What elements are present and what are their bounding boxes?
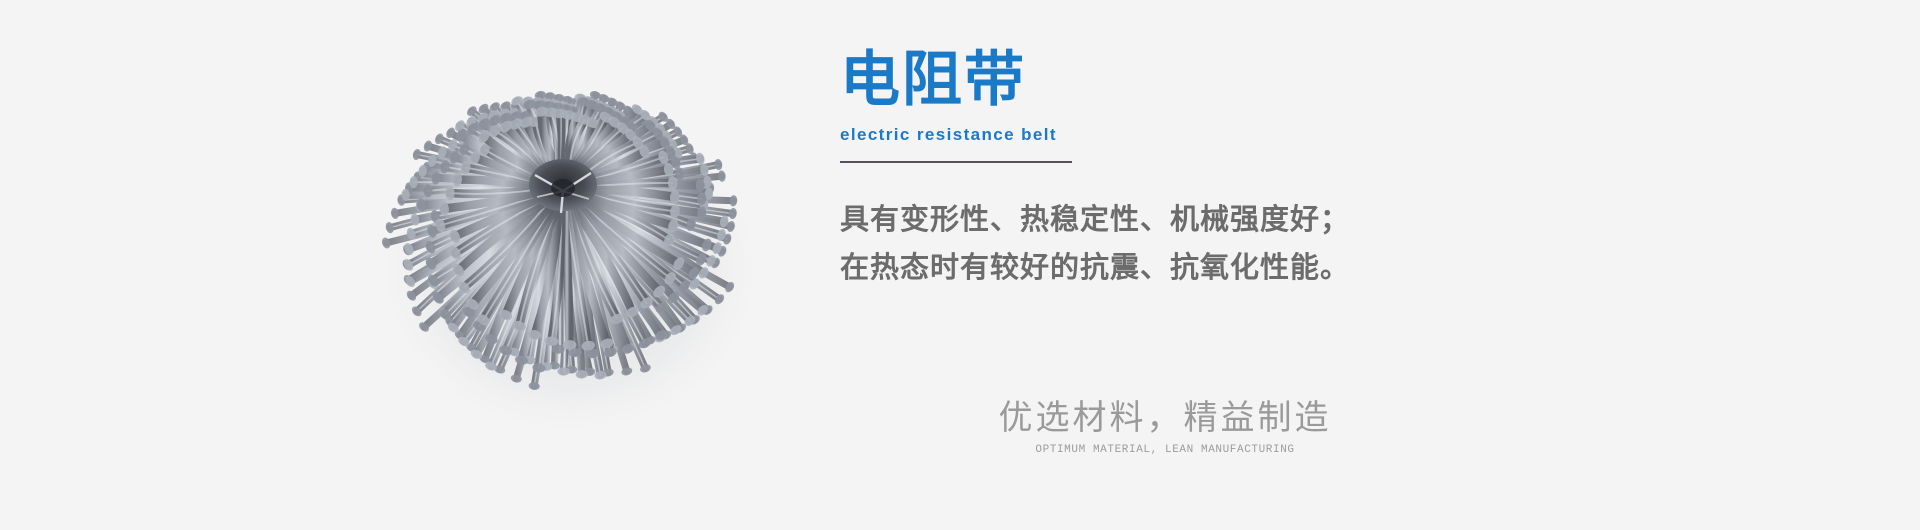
slogan-en: OPTIMUM MATERIAL, LEAN MANUFACTURING [955, 443, 1375, 457]
product-image [355, 55, 785, 455]
title-divider [840, 161, 1072, 163]
page-title: 电阻带 [840, 48, 1540, 112]
description-line: 在热态时有较好的抗震、抗氧化性能。 [840, 244, 1540, 292]
slogan-cn: 优选材料，精益制造 [955, 398, 1375, 440]
page-subtitle: electric resistance belt [840, 125, 1540, 145]
slogan-block: 优选材料，精益制造 OPTIMUM MATERIAL, LEAN MANUFAC… [955, 398, 1375, 457]
text-content: 电阻带 electric resistance belt 具有变形性、热稳定性、… [840, 48, 1540, 292]
description-line: 具有变形性、热稳定性、机械强度好； [840, 196, 1540, 244]
strip-tip [557, 367, 569, 375]
description-block: 具有变形性、热稳定性、机械强度好； 在热态时有较好的抗震、抗氧化性能。 [840, 196, 1540, 292]
resistance-belt-illustration [355, 55, 785, 455]
product-banner: 电阻带 electric resistance belt 具有变形性、热稳定性、… [0, 0, 1920, 530]
